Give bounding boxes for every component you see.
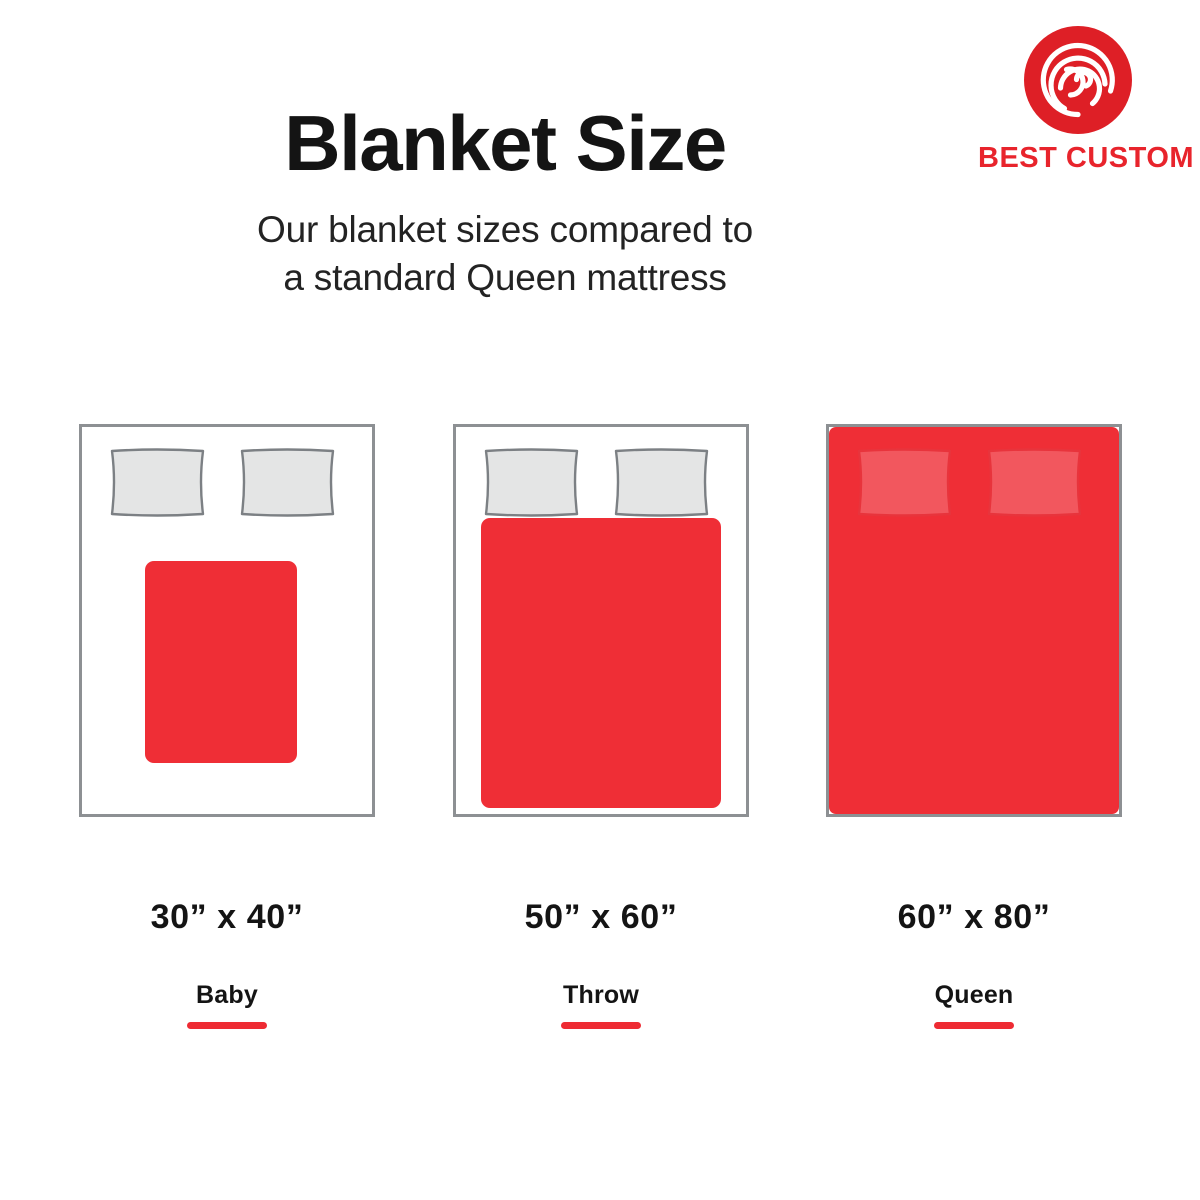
- page-title: Blanket Size: [0, 104, 1010, 184]
- dimension-label: 30” x 40”: [79, 900, 375, 934]
- blanket-swatch-baby: [145, 561, 297, 763]
- size-name-label: Throw: [453, 983, 749, 1008]
- bed-comparison-row: [0, 424, 1200, 824]
- caption-baby: 30” x 40” Baby: [79, 900, 375, 1029]
- captions-row: 30” x 40” Baby 50” x 60” Throw 60” x 80”…: [0, 900, 1200, 1060]
- bed-diagram-throw: [453, 424, 749, 817]
- underline-accent-bar: [187, 1022, 267, 1029]
- pillow-icon: [106, 448, 209, 517]
- pillow-icon: [610, 448, 713, 517]
- caption-queen: 60” x 80” Queen: [826, 900, 1122, 1029]
- size-name-label: Baby: [79, 983, 375, 1008]
- pillow-icon: [853, 448, 956, 517]
- underline-accent-bar: [934, 1022, 1014, 1029]
- underline-accent-bar: [561, 1022, 641, 1029]
- size-name-label: Queen: [826, 983, 1122, 1008]
- page-subtitle-line-2: a standard Queen mattress: [125, 254, 885, 303]
- pillow-icon: [236, 448, 339, 517]
- caption-throw: 50” x 60” Throw: [453, 900, 749, 1029]
- bed-diagram-queen: [826, 424, 1122, 817]
- page-subtitle: Our blanket sizes compared to a standard…: [125, 206, 885, 304]
- bed-diagram-baby: [79, 424, 375, 817]
- pillow-icon: [480, 448, 583, 517]
- pillow-icon: [983, 448, 1086, 517]
- page-subtitle-line-1: Our blanket sizes compared to: [125, 206, 885, 255]
- dimension-label: 60” x 80”: [826, 900, 1122, 934]
- dimension-label: 50” x 60”: [453, 900, 749, 934]
- blanket-swatch-throw: [481, 518, 721, 808]
- heading-block: Blanket Size Our blanket sizes compared …: [0, 104, 1200, 303]
